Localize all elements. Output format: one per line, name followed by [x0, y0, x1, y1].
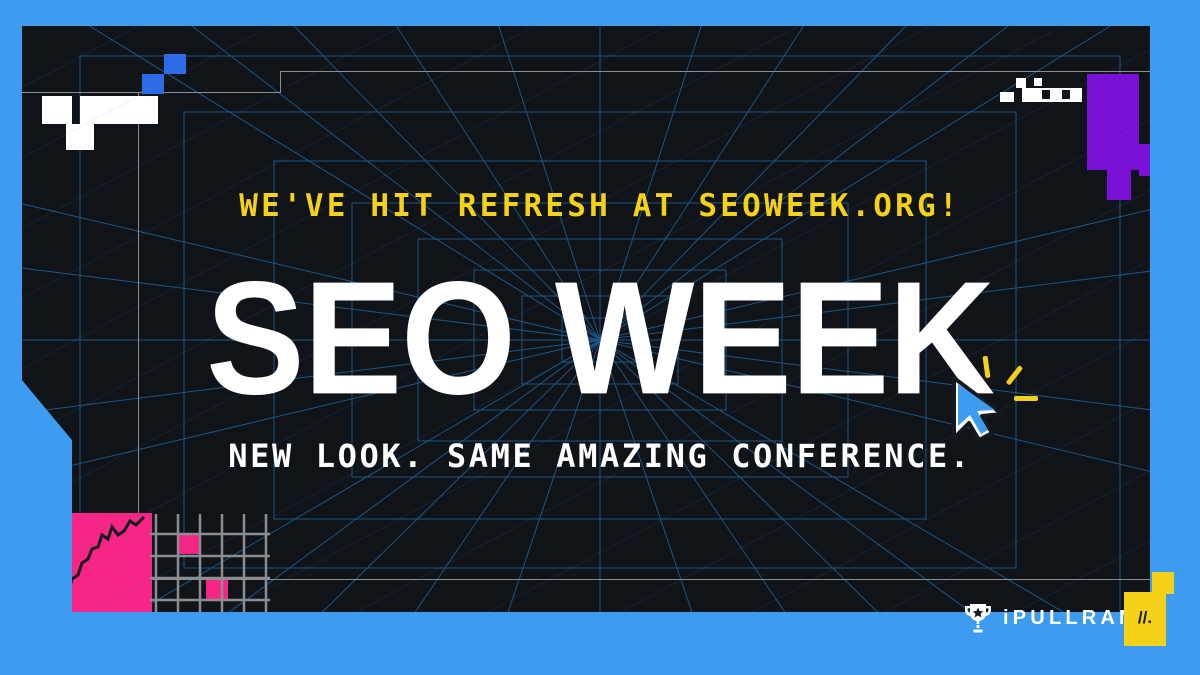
- decor-top-right-purple-block-small: [1139, 144, 1150, 176]
- decor-top-left-white-block-2: [80, 96, 158, 124]
- badge-accent-square: [1152, 572, 1174, 594]
- decor-top-right-dark-dot-1: [1042, 90, 1050, 99]
- trophy-icon: [963, 602, 993, 634]
- cursor-spark-strokes: [982, 356, 1038, 401]
- decor-top-left-white-block-1: [42, 96, 72, 124]
- eyebrow-text: WE'VE HIT REFRESH AT SEOWEEK.ORG!: [0, 188, 1200, 224]
- decor-top-right-dark-dot-2: [1062, 90, 1070, 99]
- decor-top-left-blue-square-1: [142, 74, 164, 94]
- decor-top-right-white-dash-3: [1016, 78, 1026, 88]
- subtitle-text: NEW LOOK. SAME AMAZING CONFERENCE.: [0, 437, 1200, 475]
- decor-top-right-white-dash-2: [1000, 92, 1014, 102]
- rule-top-horizontal-right: [280, 71, 1150, 72]
- badge-mark: //.: [1124, 592, 1166, 646]
- mouse-cursor-icon: [940, 352, 1050, 442]
- cursor-arrow: [954, 378, 1002, 440]
- decor-top-right-white-dash-4: [1034, 78, 1042, 86]
- decor-pink-cell-grid: [150, 514, 270, 612]
- decor-top-left-white-block-3: [66, 124, 94, 150]
- decor-top-right-purple-block-main: [1087, 74, 1139, 170]
- rule-top-vertical-step: [280, 71, 281, 93]
- decor-top-left-blue-square-2: [164, 54, 186, 74]
- promo-graphic: WE'VE HIT REFRESH AT SEOWEEK.ORG! SEO WE…: [0, 0, 1200, 675]
- badge-mark-text: //.: [1138, 608, 1152, 628]
- decor-top-right-white-dash-1: [1022, 88, 1082, 102]
